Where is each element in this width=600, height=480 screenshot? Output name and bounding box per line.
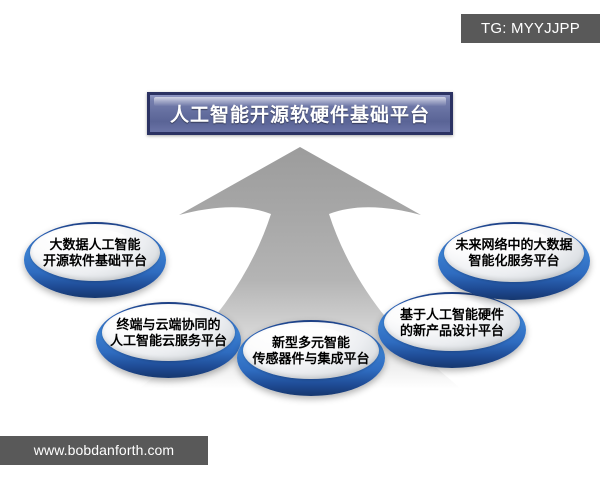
tag-badge: TG: MYYJJPP (461, 14, 600, 43)
disc-top-face: 未来网络中的大数据 智能化服务平台 (444, 224, 583, 282)
node-label: 未来网络中的大数据 智能化服务平台 (455, 237, 572, 269)
disc-top-face: 基于人工智能硬件 的新产品设计平台 (384, 294, 520, 351)
node-new-multi-element-intelligent-sensors[interactable]: 新型多元智能 传感器件与集成平台 (237, 320, 385, 396)
node-label-line1: 大数据人工智能 (43, 237, 147, 253)
node-edge-cloud-collaborative-ai-cloud-service[interactable]: 终端与云端协同的 人工智能云服务平台 (96, 302, 241, 378)
node-label-line2: 智能化服务平台 (455, 253, 572, 269)
node-label-line1: 终端与云端协同的 (110, 317, 227, 333)
node-label-line2: 的新产品设计平台 (400, 323, 504, 339)
node-label: 新型多元智能 传感器件与集成平台 (252, 335, 369, 367)
disc-top-face: 新型多元智能 传感器件与集成平台 (243, 322, 379, 379)
disc-top-face: 大数据人工智能 开源软件基础平台 (30, 224, 160, 281)
node-label-line1: 基于人工智能硬件 (400, 307, 504, 323)
node-label: 终端与云端协同的 人工智能云服务平台 (110, 317, 227, 349)
banner-label: 人工智能开源软硬件基础平台 (150, 95, 450, 132)
node-big-data-ai-open-source-software[interactable]: 大数据人工智能 开源软件基础平台 (24, 222, 166, 298)
node-label-line2: 人工智能云服务平台 (110, 333, 227, 349)
node-label-line1: 未来网络中的大数据 (455, 237, 572, 253)
node-label: 大数据人工智能 开源软件基础平台 (43, 237, 147, 269)
node-label-line2: 开源软件基础平台 (43, 253, 147, 269)
title-banner: 人工智能开源软硬件基础平台 (147, 92, 453, 135)
node-future-network-big-data-intelligent-service[interactable]: 未来网络中的大数据 智能化服务平台 (438, 222, 590, 300)
site-watermark: www.bobdanforth.com (0, 436, 208, 465)
disc-top-face: 终端与云端协同的 人工智能云服务平台 (102, 304, 235, 361)
diagram-canvas: 人工智能开源软硬件基础平台 大数据人工智能 开源软件基础平台 终端与云端协同的 … (0, 0, 600, 480)
node-label: 基于人工智能硬件 的新产品设计平台 (400, 307, 504, 339)
node-label-line1: 新型多元智能 (252, 335, 369, 351)
node-ai-hardware-new-product-design[interactable]: 基于人工智能硬件 的新产品设计平台 (378, 292, 526, 368)
node-label-line2: 传感器件与集成平台 (252, 351, 369, 367)
